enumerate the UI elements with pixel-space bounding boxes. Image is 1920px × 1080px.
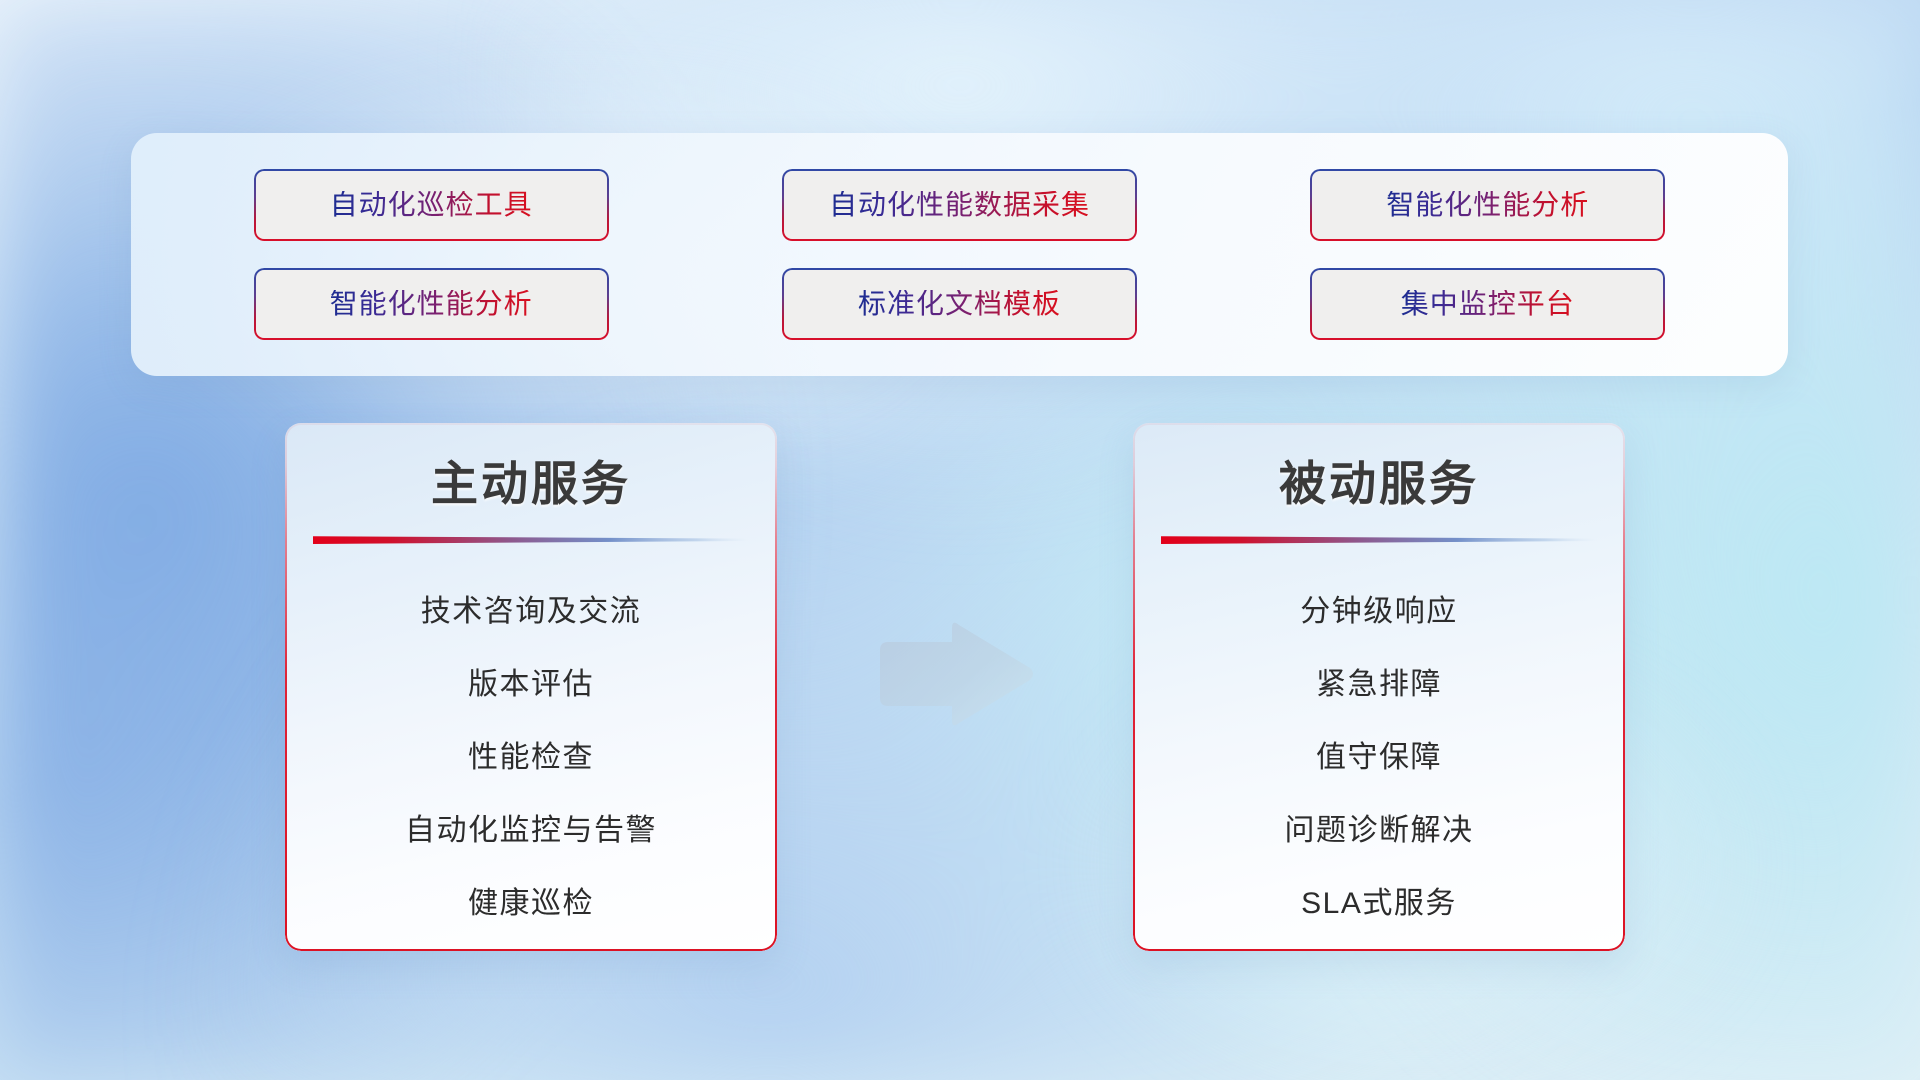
list-item: 版本评估 (285, 648, 777, 721)
capability-pill-auto-inspection-tool[interactable]: 自动化巡检工具 (254, 169, 609, 241)
capability-pill-smart-perf-analysis[interactable]: 智能化性能分析 (1310, 169, 1665, 241)
capability-pill-standard-doc-template[interactable]: 标准化文档模板 (782, 268, 1137, 340)
card-passive-service-title: 被动服务 (1133, 423, 1625, 511)
capability-pill-label: 集中监控平台 (1401, 290, 1575, 318)
list-item: 问题诊断解决 (1133, 794, 1625, 867)
capability-pill-smart-perf-analysis-2[interactable]: 智能化性能分析 (254, 268, 609, 340)
capability-pill-central-monitor-platform[interactable]: 集中监控平台 (1310, 268, 1665, 340)
capability-pill-label: 标准化文档模板 (858, 290, 1061, 318)
card-active-service-title: 主动服务 (285, 423, 777, 511)
card-passive-service-divider (1161, 535, 1597, 545)
list-item: 值守保障 (1133, 721, 1625, 794)
card-active-service-divider (313, 535, 749, 545)
capability-pill-label: 自动化性能数据采集 (829, 191, 1090, 219)
capability-pill-label: 智能化性能分析 (1386, 191, 1589, 219)
card-active-service[interactable]: 主动服务 技术咨询及交流 版本评估 性能检查 (285, 423, 777, 951)
list-item: SLA式服务 (1133, 867, 1625, 940)
card-passive-service-list: 分钟级响应 紧急排障 值守保障 问题诊断解决 SLA式服务 (1133, 545, 1625, 940)
capability-pill-auto-perf-data-collect[interactable]: 自动化性能数据采集 (782, 169, 1137, 241)
list-item: 紧急排障 (1133, 648, 1625, 721)
list-item: 健康巡检 (285, 867, 777, 940)
list-item: 自动化监控与告警 (285, 794, 777, 867)
list-item: 技术咨询及交流 (285, 575, 777, 648)
capabilities-panel: 自动化巡检工具 自动化性能数据采集 智能化性能分析 智能化性能分析 标准化文档模… (131, 133, 1788, 376)
card-active-service-list: 技术咨询及交流 版本评估 性能检查 自动化监控与告警 健康巡检 (285, 545, 777, 940)
capability-pill-label: 自动化巡检工具 (330, 191, 533, 219)
card-passive-service[interactable]: 被动服务 分钟级响应 紧急排障 值守保障 (1133, 423, 1625, 951)
list-item: 性能检查 (285, 721, 777, 794)
list-item: 分钟级响应 (1133, 575, 1625, 648)
slide-canvas: 自动化巡检工具 自动化性能数据采集 智能化性能分析 智能化性能分析 标准化文档模… (0, 0, 1920, 1080)
capability-pill-label: 智能化性能分析 (330, 290, 533, 318)
arrow-right-icon (872, 618, 1037, 730)
capability-pill-grid: 自动化巡检工具 自动化性能数据采集 智能化性能分析 智能化性能分析 标准化文档模… (131, 133, 1788, 376)
